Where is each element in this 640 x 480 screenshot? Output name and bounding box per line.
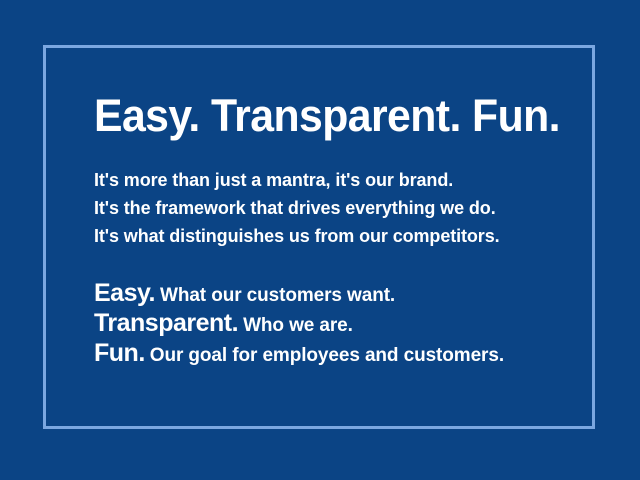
intro-line: It's more than just a mantra, it's our b… bbox=[94, 166, 500, 194]
definition-list: Easy.What our customers want. Transparen… bbox=[94, 279, 504, 369]
intro-line: It's what distinguishes us from our comp… bbox=[94, 222, 500, 250]
definition-term: Transparent. bbox=[94, 309, 238, 337]
definition-item: Transparent.Who we are. bbox=[94, 309, 504, 339]
intro-paragraph: It's more than just a mantra, it's our b… bbox=[94, 166, 500, 250]
definition-description: Who we are. bbox=[243, 315, 353, 336]
definition-item: Easy.What our customers want. bbox=[94, 279, 504, 309]
slide: Easy. Transparent. Fun. It's more than j… bbox=[0, 0, 640, 480]
page-title: Easy. Transparent. Fun. bbox=[94, 93, 560, 138]
definition-term: Easy. bbox=[94, 279, 155, 307]
definition-term: Fun. bbox=[94, 339, 145, 367]
definition-description: Our goal for employees and customers. bbox=[150, 345, 504, 366]
intro-line: It's the framework that drives everythin… bbox=[94, 194, 500, 222]
definition-description: What our customers want. bbox=[160, 285, 395, 306]
definition-item: Fun.Our goal for employees and customers… bbox=[94, 339, 504, 369]
